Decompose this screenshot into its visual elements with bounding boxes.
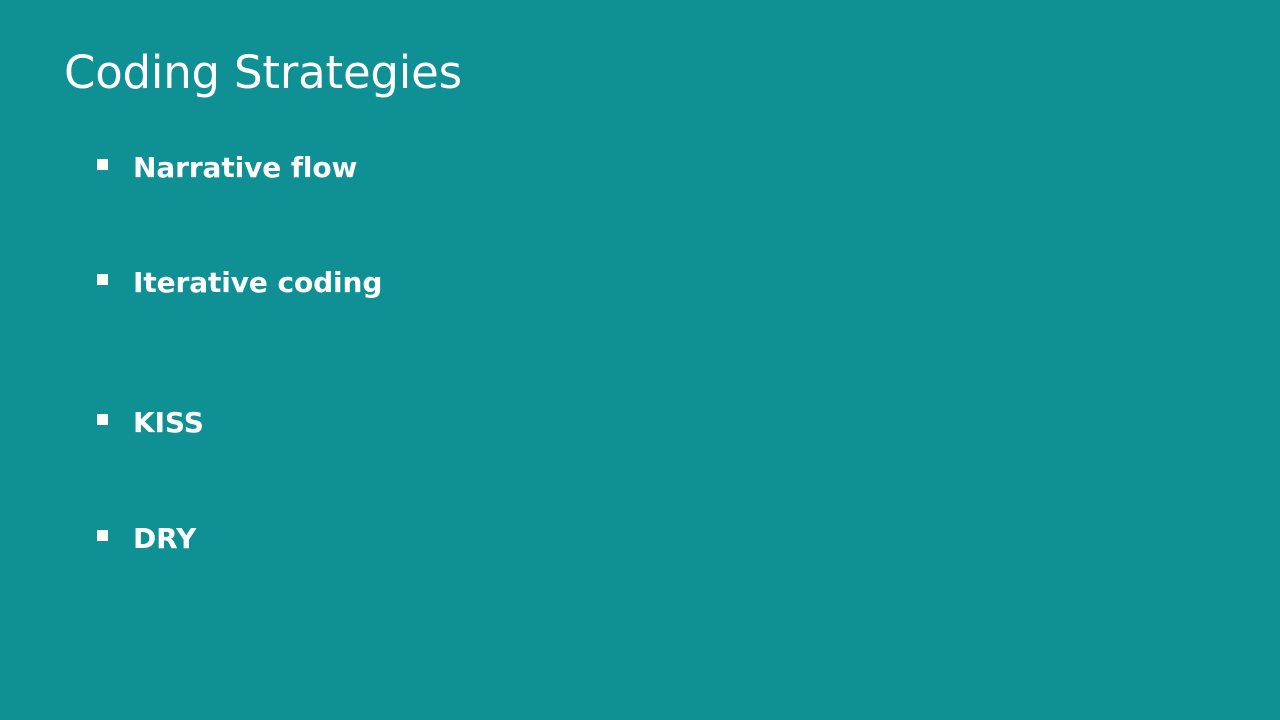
list-item[interactable]: DRY xyxy=(97,522,196,556)
list-item-label: KISS xyxy=(133,406,204,440)
list-item-label: Iterative coding xyxy=(133,266,382,300)
list-item[interactable]: Narrative flow xyxy=(97,151,357,185)
square-bullet-icon xyxy=(97,530,108,541)
list-item-label: DRY xyxy=(133,522,196,556)
list-item[interactable]: Iterative coding xyxy=(97,266,382,300)
presentation-slide: Coding Strategies Narrative flow Iterati… xyxy=(0,0,1280,720)
square-bullet-icon xyxy=(97,414,108,425)
list-item-label: Narrative flow xyxy=(133,151,357,185)
square-bullet-icon xyxy=(97,274,108,285)
bullet-list: Narrative flow Iterative coding KISS DRY xyxy=(0,0,1280,720)
list-item[interactable]: KISS xyxy=(97,406,204,440)
square-bullet-icon xyxy=(97,159,108,170)
